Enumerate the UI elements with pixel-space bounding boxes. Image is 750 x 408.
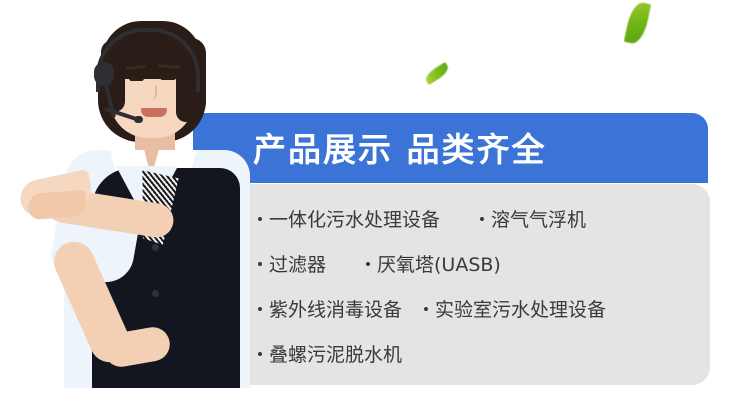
- list-item-label: 叠螺污泥脱水机: [269, 340, 402, 367]
- page-title: 产品展示 品类齐全: [253, 123, 547, 171]
- list-item[interactable]: 溶气气浮机: [480, 205, 586, 232]
- list-item[interactable]: 叠螺污泥脱水机: [258, 340, 402, 367]
- bullet-icon: [258, 352, 262, 356]
- list-item-label: 溶气气浮机: [491, 205, 586, 232]
- bullet-icon: [258, 262, 262, 266]
- bullet-icon: [424, 307, 428, 311]
- list-item[interactable]: 实验室污水处理设备: [424, 295, 606, 322]
- list-item-label: 实验室污水处理设备: [435, 295, 606, 322]
- bullet-icon: [366, 262, 370, 266]
- mouth: [141, 108, 167, 117]
- product-row: 叠螺污泥脱水机: [258, 331, 708, 376]
- headset-earcup-icon: [94, 62, 114, 86]
- customer-service-photo: [0, 0, 250, 408]
- headline-banner: 产品展示 品类齐全: [193, 113, 708, 183]
- bullet-icon: [258, 217, 262, 221]
- list-item[interactable]: 紫外线消毒设备: [258, 295, 402, 322]
- bullet-icon: [258, 307, 262, 311]
- banner-graphic: 产品展示 品类齐全 一体化污水处理设备 溶气气浮机 过滤器 厌氧塔(UASB): [0, 0, 750, 408]
- bullet-icon: [480, 217, 484, 221]
- product-row: 紫外线消毒设备 实验室污水处理设备: [258, 286, 708, 331]
- product-list: 一体化污水处理设备 溶气气浮机 过滤器 厌氧塔(UASB) 紫外线消毒设备: [258, 196, 708, 376]
- list-item-label: 过滤器: [269, 250, 326, 277]
- leaf-icon-small: [423, 62, 451, 85]
- list-item-label: 紫外线消毒设备: [269, 295, 402, 322]
- list-item[interactable]: 一体化污水处理设备: [258, 205, 440, 232]
- list-item-label: 一体化污水处理设备: [269, 205, 440, 232]
- product-row: 一体化污水处理设备 溶气气浮机: [258, 196, 708, 241]
- vest-button: [152, 244, 159, 251]
- leaf-icon-large: [624, 0, 651, 45]
- list-item[interactable]: 过滤器: [258, 250, 326, 277]
- vest-button: [152, 290, 159, 297]
- list-item-label: 厌氧塔(UASB): [377, 250, 501, 277]
- list-item[interactable]: 厌氧塔(UASB): [366, 250, 501, 277]
- headset-mic-tip-icon: [134, 116, 143, 123]
- product-row: 过滤器 厌氧塔(UASB): [258, 241, 708, 286]
